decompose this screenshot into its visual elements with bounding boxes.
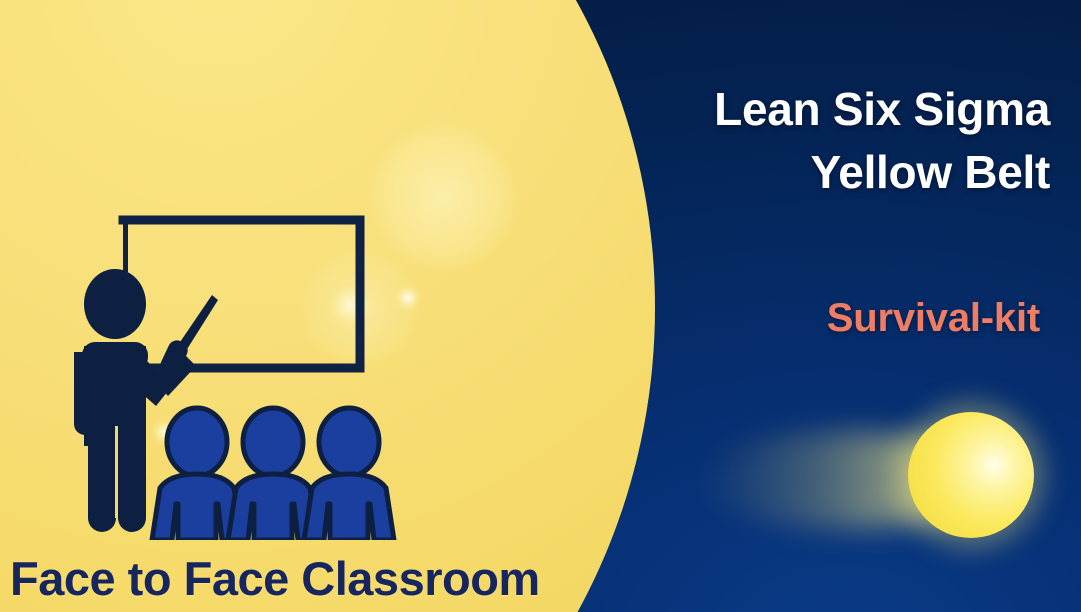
delivery-mode-label: Face to Face Classroom [10,551,540,606]
whiteboard-icon [123,220,360,368]
classroom-training-icon [60,200,420,540]
course-title-line-2: Yellow Belt [560,141,1050,204]
glowing-sphere-icon [908,412,1034,538]
course-banner: Lean Six Sigma Yellow Belt Survival-kit … [0,0,1081,612]
course-title-line-1: Lean Six Sigma [560,78,1050,141]
course-title: Lean Six Sigma Yellow Belt [560,78,1050,203]
student-figure-icon [152,408,394,540]
course-subtitle: Survival-kit [560,296,1040,341]
